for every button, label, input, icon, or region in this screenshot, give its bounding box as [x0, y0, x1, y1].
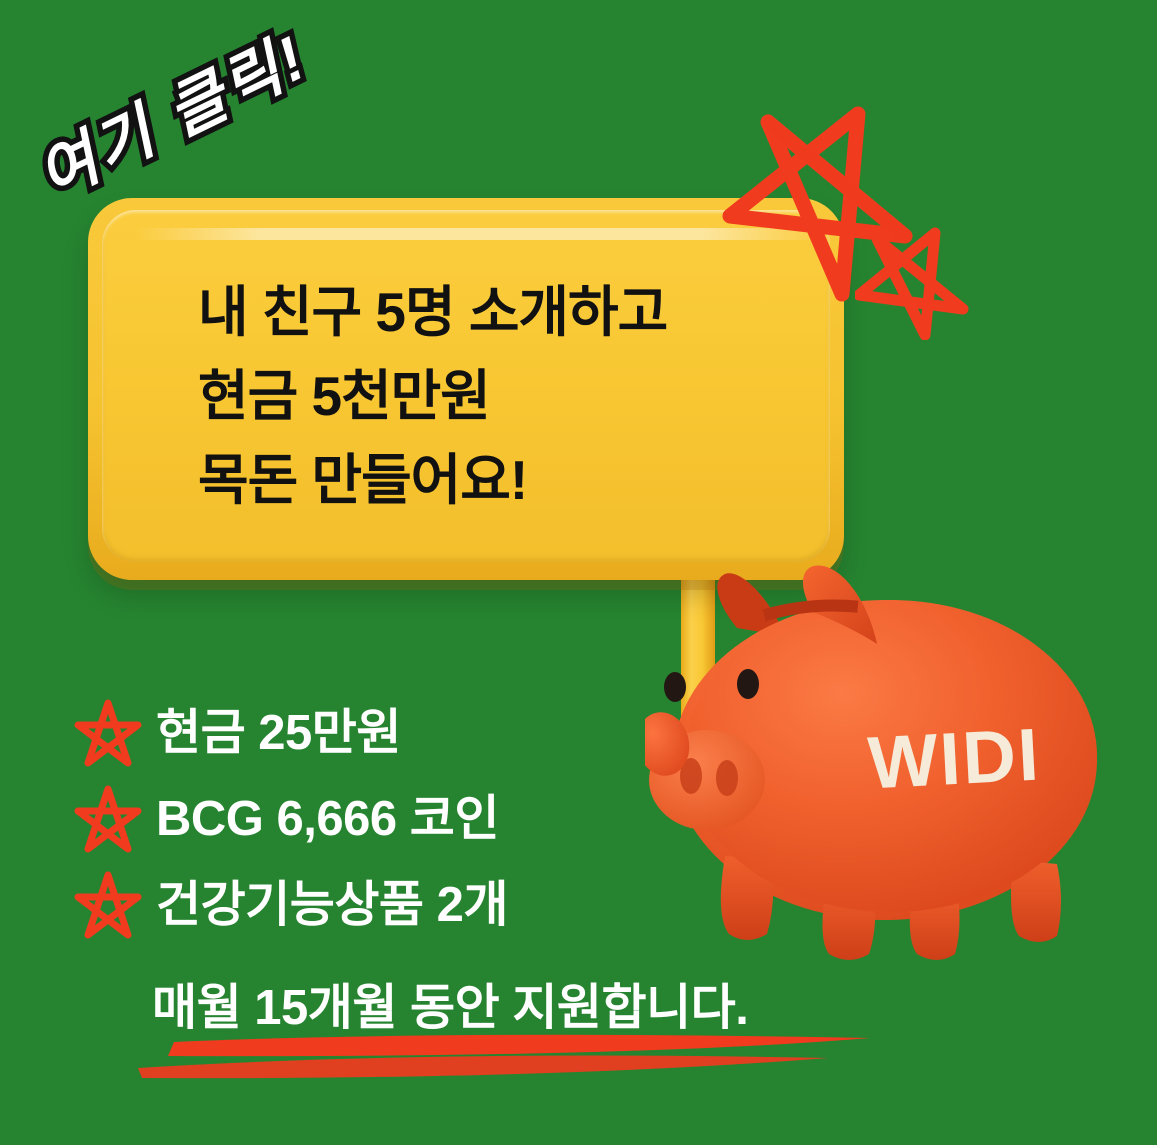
piggy-bank-mascot: WIDI: [645, 560, 1157, 980]
star-scribble-icon-small: [855, 225, 975, 340]
benefits-list: 현금 25만원 BCG 6,666 코인 건강기능상품 2개: [72, 690, 712, 948]
list-item: 건강기능상품 2개: [72, 862, 712, 948]
star-scribble-icon: [72, 783, 144, 855]
brush-underline-stroke: [128, 1028, 888, 1090]
star-scribble-icon: [72, 697, 144, 769]
list-item-label: BCG 6,666 코인: [156, 795, 499, 844]
list-item: 현금 25만원: [72, 690, 712, 776]
list-item-label: 현금 25만원: [156, 709, 401, 758]
list-item: BCG 6,666 코인: [72, 776, 712, 862]
sign-headline-line-1: 내 친구 5명 소개하고: [198, 270, 790, 354]
click-here-sticker[interactable]: 여기 클릭!: [20, 7, 320, 215]
star-scribble-icon: [72, 869, 144, 941]
sign-headline-line-2: 현금 5천만원: [198, 354, 790, 438]
sign-headline-line-3: 목돈 만들어요!: [198, 438, 790, 522]
sign-face: 내 친구 5명 소개하고 현금 5천만원 목돈 만들어요!: [102, 210, 830, 562]
sign-headline: 내 친구 5명 소개하고 현금 5천만원 목돈 만들어요!: [198, 270, 790, 522]
list-item-label: 건강기능상품 2개: [156, 881, 508, 930]
widi-brand-text: WIDI: [866, 713, 1043, 805]
promo-banner: WIDI 내 친구 5명 소개하고 현금 5천만원 목돈 만들어요! 여기 클릭…: [0, 0, 1157, 1145]
